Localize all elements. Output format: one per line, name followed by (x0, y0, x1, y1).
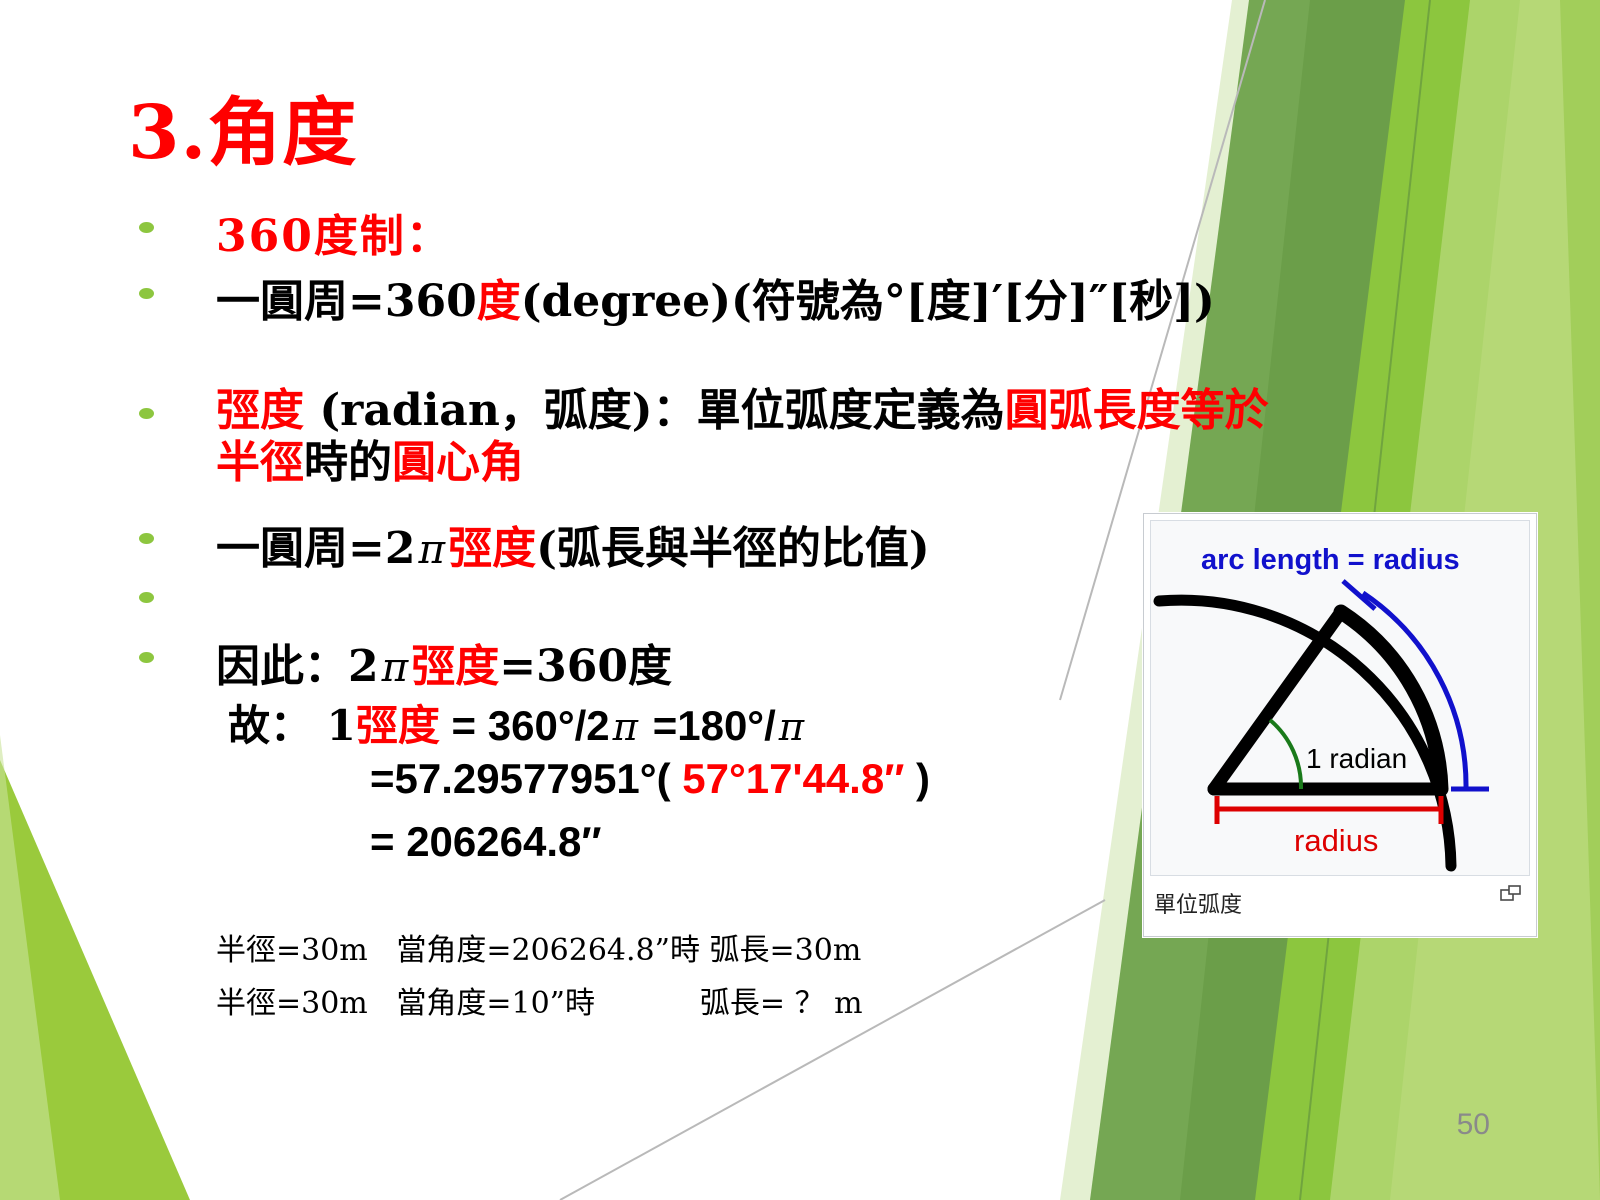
label-one-radian: 1 radian (1306, 743, 1407, 774)
note-line-2: 半徑=30m 當角度=10”時 弧長= ？ m (216, 978, 863, 1022)
bullet-dot-1 (139, 222, 154, 233)
radian-seg2: (radian，弧度)：單位弧度定義為 (304, 385, 1005, 436)
radian-seg4: 時的 (304, 437, 392, 488)
circle-seg4: °[度]′[分]″[秒]) (884, 276, 1215, 327)
label-radius: radius (1294, 823, 1378, 858)
thus-seg3: =360度 (499, 641, 672, 692)
pi-symbol: π (415, 525, 448, 573)
figure-caption-bar: 單位弧度 (1150, 876, 1530, 930)
bullet-line-circle-radians: 一圓周=2π弳度(弧長與半徑的比值) (216, 512, 930, 576)
gu-seg3: = 360°/2 (440, 702, 610, 749)
wedge-left-pale (0, 735, 60, 1200)
circle-seg1: 一圓周=360 (216, 276, 477, 327)
note-line-1: 半徑=30m 當角度=206264.8”時 弧長=30m (216, 925, 861, 969)
page-title: 3.角度 (128, 96, 357, 170)
eq1-seg2-red: 57°17'44.8″ (682, 755, 904, 802)
gu-seg1: 故： 1 (228, 701, 356, 750)
bullet-line-degree-system: 360度制： (216, 200, 452, 264)
gu-seg4: =180°/ (641, 702, 776, 749)
wedge-left (0, 760, 190, 1200)
twopi-seg3: (弧長與半徑的比值) (536, 523, 930, 574)
bullet-dot-5 (139, 592, 154, 603)
radian-diagram-canvas: arc length = radius 1 radian radius (1150, 520, 1530, 876)
bullet-line-therefore: 因此：2π弳度=360度 (216, 630, 672, 694)
radian-seg1-red: 弳度 (216, 385, 304, 436)
twopi-seg2-red: 弳度 (448, 523, 536, 574)
bullet-dot-3 (139, 408, 154, 419)
label-arc-length: arc length = radius (1201, 544, 1460, 576)
bullet-dot-2 (139, 288, 154, 299)
radian-diagram-figure: arc length = radius 1 radian radius 單位弧度 (1143, 513, 1537, 937)
eq1-seg1: =57.29577951°( (370, 755, 682, 802)
degree-system-text: 360度制： (216, 211, 452, 262)
pi-symbol: π (776, 705, 807, 750)
angle-arc-green (1270, 720, 1301, 789)
page-number: 50 (1457, 1108, 1490, 1142)
slide-canvas: 3.角度 360度制： 一圓周=360度(degree)(符號為°[度]′[分]… (0, 0, 1600, 1200)
radian-seg5-red: 圓心角 (392, 437, 524, 488)
formula-line-degrees-value: =57.29577951°( 57°17'44.8″ ) (370, 755, 930, 803)
circle-seg3: (degree)(符號為 (521, 276, 884, 327)
formula-line-conversion: 故： 1弳度 = 360°/2π =180°/π (228, 692, 807, 753)
eq2-text: = 206264.8″ (370, 818, 602, 865)
title-text: 角度 (207, 90, 357, 176)
thus-seg1: 因此：2 (216, 641, 379, 692)
eq1-seg3: ) (904, 755, 930, 802)
bullet-dot-6 (139, 652, 154, 663)
thus-seg2-red: 弳度 (411, 641, 499, 692)
title-number: 3. (128, 90, 207, 176)
bullet-line-radian-definition: 弳度 (radian，弧度)：單位弧度定義為圓弧長度等於半徑時的圓心角 (216, 385, 1296, 489)
expand-icon[interactable] (1500, 884, 1522, 904)
circle-seg2-red: 度 (477, 276, 521, 327)
figure-caption: 單位弧度 (1154, 887, 1242, 919)
bullet-line-circle-degrees: 一圓周=360度(degree)(符號為°[度]′[分]″[秒]) (216, 265, 1215, 329)
formula-line-arcseconds-value: = 206264.8″ (370, 818, 602, 866)
twopi-seg1: 一圓周=2 (216, 523, 415, 574)
bullet-dot-4 (139, 533, 154, 544)
pi-symbol: π (379, 643, 412, 691)
pi-symbol: π (610, 705, 641, 750)
gu-seg2-red: 弳度 (356, 701, 440, 750)
